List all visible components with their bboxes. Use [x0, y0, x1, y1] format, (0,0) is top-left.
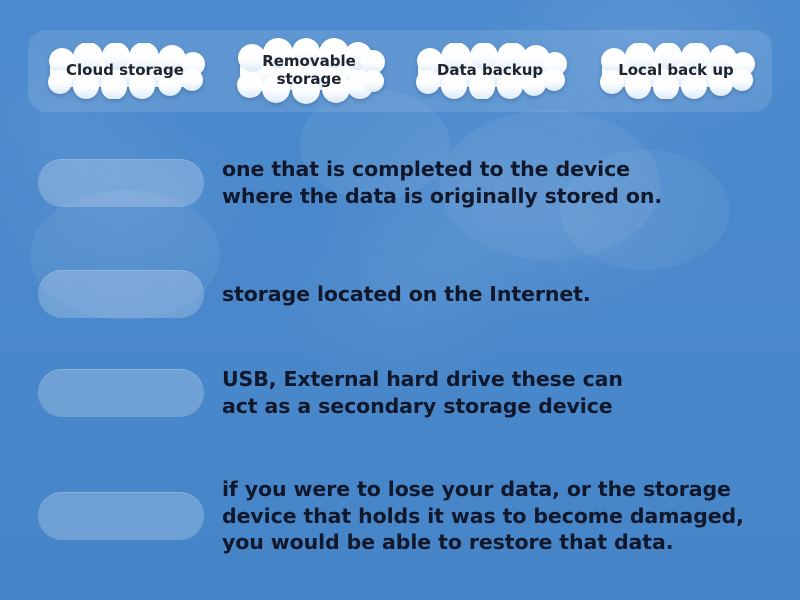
word-card-removable-storage[interactable]: Removable storage: [230, 38, 388, 104]
definition-text-1: one that is completed to the device wher…: [222, 156, 774, 209]
activity-stage: Cloud storage: [0, 0, 800, 600]
answer-dropzone-3[interactable]: [38, 369, 204, 417]
definition-text-2: storage located on the Internet.: [222, 281, 774, 308]
question-row: if you were to lose your data, or the st…: [38, 476, 774, 556]
definition-text-3: USB, External hard drive these can act a…: [222, 366, 774, 419]
answer-dropzone-2[interactable]: [38, 270, 204, 318]
answer-dropzone-1[interactable]: [38, 159, 204, 207]
question-row: one that is completed to the device wher…: [38, 156, 774, 209]
word-card-data-backup[interactable]: Data backup: [408, 43, 572, 99]
word-card-label: Data backup: [437, 62, 543, 80]
question-list: one that is completed to the device wher…: [0, 118, 800, 590]
question-row: storage located on the Internet.: [38, 270, 774, 318]
word-card-cloud-storage[interactable]: Cloud storage: [40, 43, 210, 99]
definition-text-4: if you were to lose your data, or the st…: [222, 476, 774, 556]
word-card-label: Cloud storage: [66, 62, 184, 80]
word-card-local-back-up[interactable]: Local back up: [592, 43, 760, 99]
word-card-label: Removable storage: [262, 53, 356, 88]
word-card-label: Local back up: [618, 62, 734, 80]
question-row: USB, External hard drive these can act a…: [38, 366, 774, 419]
answer-dropzone-4[interactable]: [38, 492, 204, 540]
word-card-tray: Cloud storage: [28, 30, 772, 112]
